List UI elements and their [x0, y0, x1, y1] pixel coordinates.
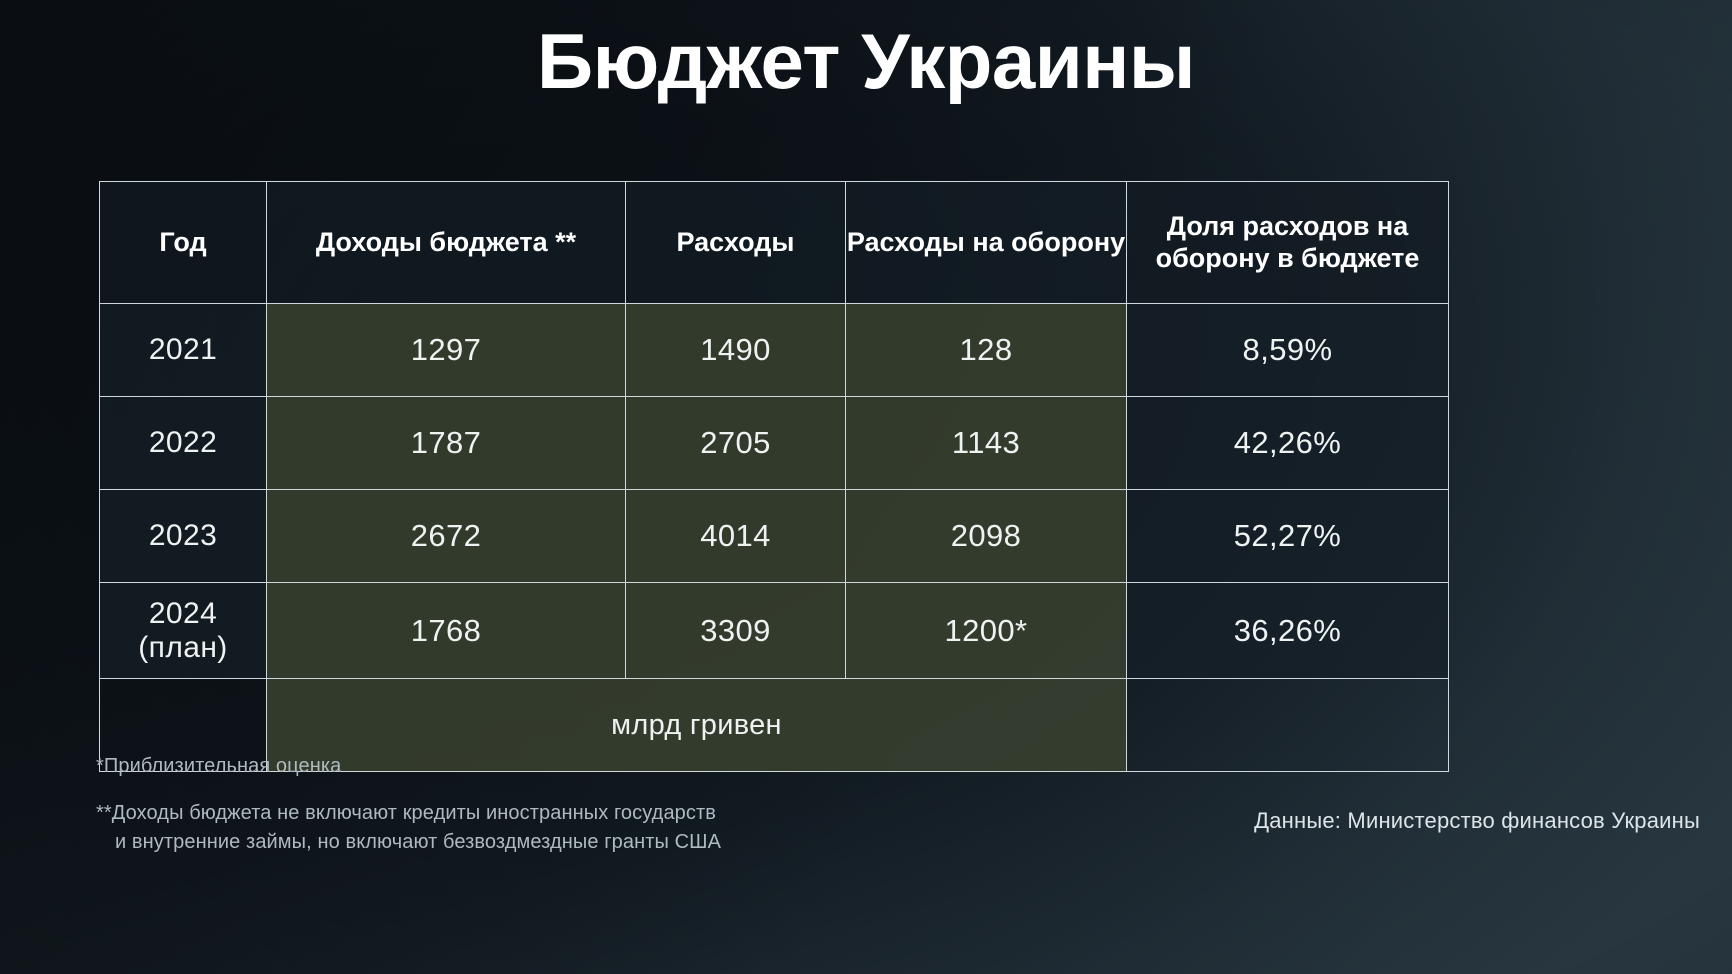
cell-expenses: 2705 [626, 397, 846, 490]
cell-income: 1787 [267, 397, 626, 490]
cell-defense-share: 8,59% [1127, 304, 1449, 397]
page-title: Бюджет Украины [0, 22, 1732, 100]
cell-defense: 128 [846, 304, 1127, 397]
units-row-spacer-right [1127, 679, 1449, 772]
footnote-income-line-1: **Доходы бюджета не включают кредиты ино… [96, 802, 716, 824]
column-header-expenses: Расходы [626, 182, 846, 304]
cell-year-line-2: (план) [100, 631, 266, 665]
cell-expenses: 1490 [626, 304, 846, 397]
cell-expenses: 4014 [626, 490, 846, 583]
table-row: 2021 1297 1490 128 8,59% [100, 304, 1449, 397]
cell-income: 1768 [267, 583, 626, 679]
budget-table-container: Год Доходы бюджета ** Расходы Расходы на… [99, 181, 1448, 772]
table-header: Год Доходы бюджета ** Расходы Расходы на… [100, 182, 1449, 304]
footnotes: *Приблизительная оценка **Доходы бюджета… [96, 752, 721, 856]
table-body: 2021 1297 1490 128 8,59% 2022 1787 2705 … [100, 304, 1449, 772]
cell-year-line-1: 2024 [100, 597, 266, 631]
cell-defense: 1143 [846, 397, 1127, 490]
footnote-income-line-2: и внутренние займы, но включают безвоздм… [96, 828, 721, 856]
cell-defense-share: 42,26% [1127, 397, 1449, 490]
table-row: 2024 (план) 1768 3309 1200* 36,26% [100, 583, 1449, 679]
footnote-approximate-estimate: *Приблизительная оценка [96, 752, 721, 780]
table-row: 2023 2672 4014 2098 52,27% [100, 490, 1449, 583]
footnote-income-definition: **Доходы бюджета не включают кредиты ино… [96, 799, 721, 856]
cell-year: 2024 (план) [100, 583, 267, 679]
column-header-year: Год [100, 182, 267, 304]
column-header-income: Доходы бюджета ** [267, 182, 626, 304]
cell-income: 2672 [267, 490, 626, 583]
cell-year: 2022 [100, 397, 267, 490]
cell-income: 1297 [267, 304, 626, 397]
column-header-defense-share: Доля расходов на оборону в бюджете [1127, 182, 1449, 304]
table-header-row: Год Доходы бюджета ** Расходы Расходы на… [100, 182, 1449, 304]
infographic-page: Бюджет Украины Год Доходы бюджета ** Рас… [0, 0, 1732, 974]
cell-defense: 1200* [846, 583, 1127, 679]
cell-defense-share: 36,26% [1127, 583, 1449, 679]
data-source-label: Данные: Министерство финансов Украины [1254, 808, 1700, 834]
cell-year: 2021 [100, 304, 267, 397]
cell-defense: 2098 [846, 490, 1127, 583]
budget-table: Год Доходы бюджета ** Расходы Расходы на… [99, 181, 1449, 772]
cell-expenses: 3309 [626, 583, 846, 679]
cell-defense-share: 52,27% [1127, 490, 1449, 583]
table-row: 2022 1787 2705 1143 42,26% [100, 397, 1449, 490]
cell-year: 2023 [100, 490, 267, 583]
column-header-defense-expenses: Расходы на оборону [846, 182, 1127, 304]
